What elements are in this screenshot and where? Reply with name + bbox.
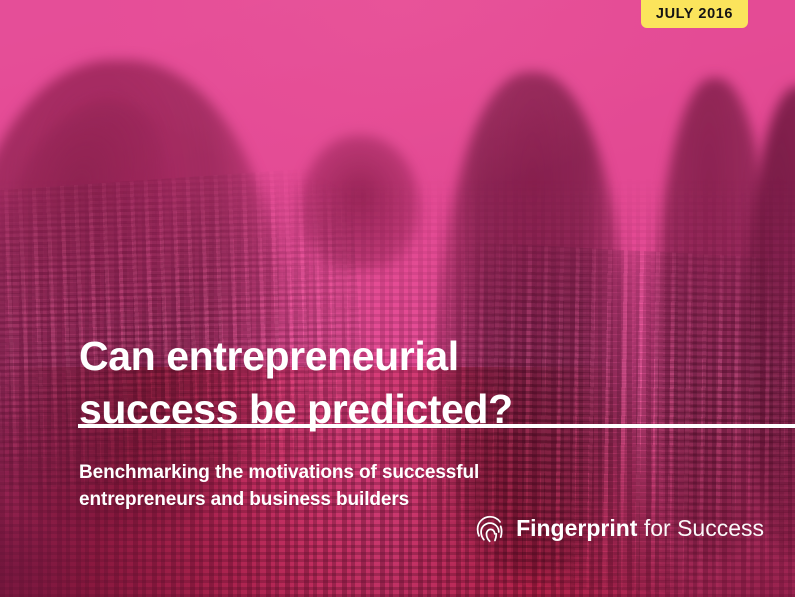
divider-rule bbox=[78, 424, 795, 428]
brand-logo-text: Fingerprint for Success bbox=[516, 517, 764, 540]
brand-name-bold: Fingerprint bbox=[516, 515, 637, 541]
page-title: Can entrepreneurial success be predicted… bbox=[79, 330, 639, 435]
brand-logo: Fingerprint for Success bbox=[474, 513, 764, 544]
fingerprint-icon bbox=[474, 513, 505, 544]
page-subtitle-line-1: Benchmarking the motivations of successf… bbox=[79, 460, 599, 487]
page-subtitle-line-2: entrepreneurs and business builders bbox=[79, 487, 599, 514]
page-subtitle: Benchmarking the motivations of successf… bbox=[79, 460, 599, 514]
date-badge: JULY 2016 bbox=[641, 0, 748, 28]
brand-name-light: for Success bbox=[637, 515, 764, 541]
page-title-line-1: Can entrepreneurial bbox=[79, 330, 639, 382]
report-cover-page: JULY 2016 Can entrepreneurial success be… bbox=[0, 0, 795, 597]
